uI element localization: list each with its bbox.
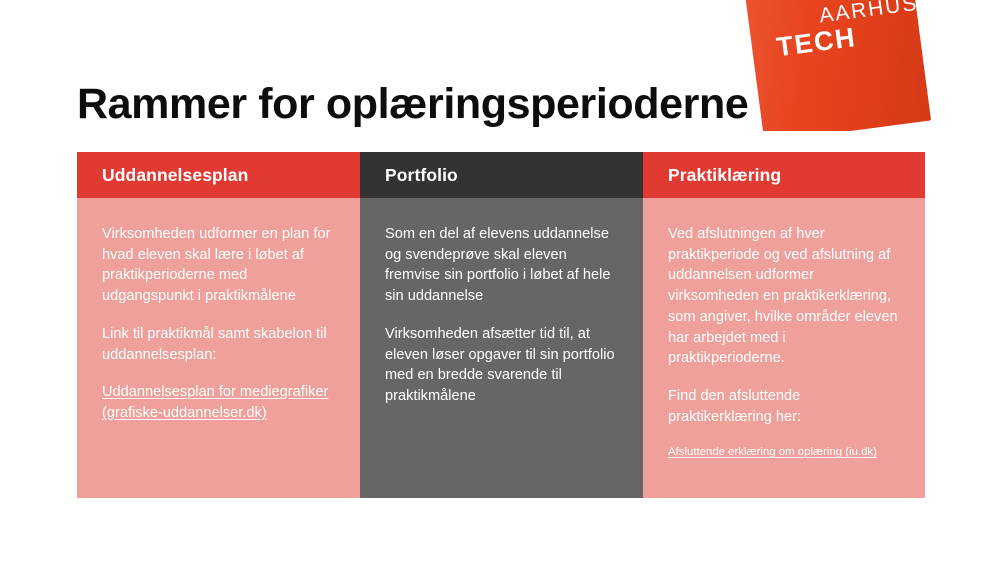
link-uddannelsesplan-mediegrafiker[interactable]: Uddannelsesplan for mediegrafiker (grafi… [102, 384, 328, 421]
column-portfolio: Portfolio Som en del af elevens uddannel… [360, 152, 643, 498]
columns-container: Uddannelsesplan Virksomheden udformer en… [77, 152, 925, 498]
paragraph: Ved afslutningen af hver praktikperiode … [668, 224, 903, 369]
column-body-portfolio: Som en del af elevens uddannelse og sven… [360, 198, 643, 498]
column-header-praktiklaering: Praktiklæring [643, 152, 925, 198]
logo-text: AARHUS TECH [770, 0, 925, 62]
paragraph: Link til praktikmål samt skabelon til ud… [102, 324, 338, 365]
paragraph: Virksomheden udformer en plan for hvad e… [102, 224, 338, 307]
column-body-uddannelsesplan: Virksomheden udformer en plan for hvad e… [77, 198, 360, 498]
page-title: Rammer for oplæringsperioderne [77, 81, 777, 128]
column-praktiklaering: Praktiklæring Ved afslutningen af hver p… [643, 152, 925, 498]
paragraph: Virksomheden afsætter tid til, at eleven… [385, 324, 621, 407]
column-header-uddannelsesplan: Uddannelsesplan [77, 152, 360, 198]
column-header-portfolio: Portfolio [360, 152, 643, 198]
paragraph: Find den afsluttende praktikerklæring he… [668, 386, 903, 427]
slide-root: AARHUS TECH Rammer for oplæringsperioder… [0, 0, 1000, 563]
logo-line-tech: TECH [773, 15, 925, 61]
logo-line-aarhus: AARHUS [770, 0, 921, 33]
column-body-praktiklaering: Ved afslutningen af hver praktikperiode … [643, 198, 925, 498]
paragraph-link: Uddannelsesplan for mediegrafiker (grafi… [102, 382, 338, 423]
paragraph-link: Afsluttende erklæring om oplæring (iu.dk… [668, 444, 903, 461]
column-uddannelsesplan: Uddannelsesplan Virksomheden udformer en… [77, 152, 360, 498]
link-afsluttende-erklaering[interactable]: Afsluttende erklæring om oplæring (iu.dk… [668, 446, 877, 458]
paragraph: Som en del af elevens uddannelse og sven… [385, 224, 621, 307]
